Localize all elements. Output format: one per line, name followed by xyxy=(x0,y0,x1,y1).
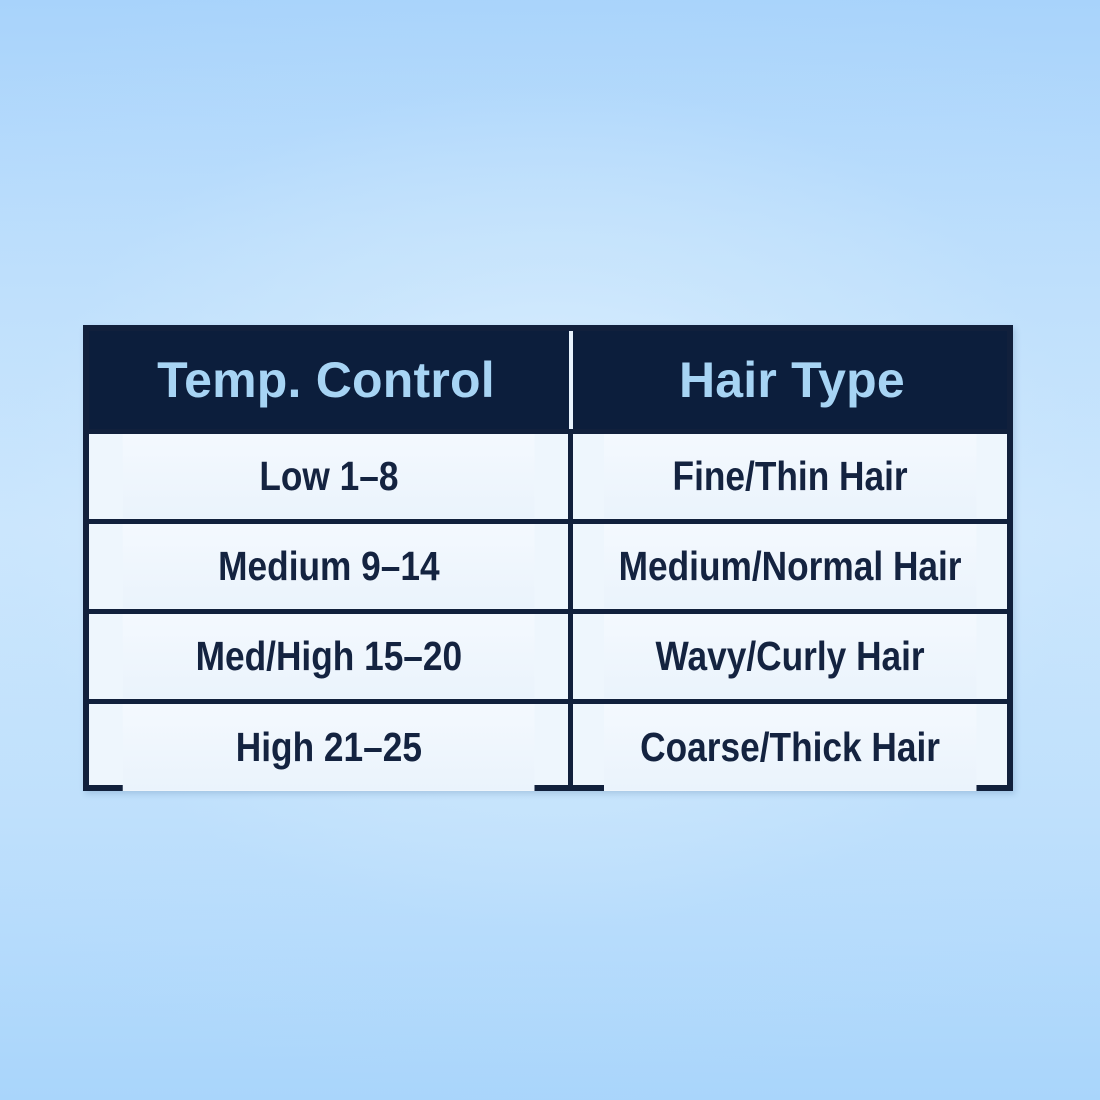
cell-hair-type-1: Fine/Thin Hair xyxy=(601,431,976,521)
column-header-temp-control: Temp. Control xyxy=(89,331,571,431)
cell-text: Coarse/Thick Hair xyxy=(640,724,940,771)
table-row: Medium 9–14 Medium/Normal Hair xyxy=(89,521,1007,611)
cell-hair-type-3: Wavy/Curly Hair xyxy=(601,611,976,701)
column-header-hair-type: Hair Type xyxy=(571,331,1007,431)
cell-text: Fine/Thin Hair xyxy=(672,453,907,500)
cell-text: Wavy/Curly Hair xyxy=(655,633,924,680)
table-body: Low 1–8 Fine/Thin Hair Medium 9–14 Mediu… xyxy=(89,431,1007,791)
table-header: Temp. Control Hair Type xyxy=(89,331,1007,431)
cell-hair-type-2: Medium/Normal Hair xyxy=(601,521,976,611)
cell-text: Low 1–8 xyxy=(259,453,398,500)
cell-hair-type-4: Coarse/Thick Hair xyxy=(601,701,976,791)
cell-text: Medium 9–14 xyxy=(218,543,439,590)
cell-temp-control-2: Medium 9–14 xyxy=(123,521,537,611)
cell-temp-control-1: Low 1–8 xyxy=(123,431,537,521)
cell-text: Med/High 15–20 xyxy=(196,633,463,680)
settings-table: Temp. Control Hair Type Low 1–8 Fine/Thi… xyxy=(89,331,1007,791)
cell-temp-control-4: High 21–25 xyxy=(123,701,537,791)
cell-text: Medium/Normal Hair xyxy=(619,543,962,590)
table-row: High 21–25 Coarse/Thick Hair xyxy=(89,701,1007,791)
table-header-row: Temp. Control Hair Type xyxy=(89,331,1007,431)
cell-temp-control-3: Med/High 15–20 xyxy=(123,611,537,701)
cell-text: High 21–25 xyxy=(236,724,422,771)
temperature-hair-type-table: Temp. Control Hair Type Low 1–8 Fine/Thi… xyxy=(83,325,1013,791)
table-row: Low 1–8 Fine/Thin Hair xyxy=(89,431,1007,521)
table-row: Med/High 15–20 Wavy/Curly Hair xyxy=(89,611,1007,701)
